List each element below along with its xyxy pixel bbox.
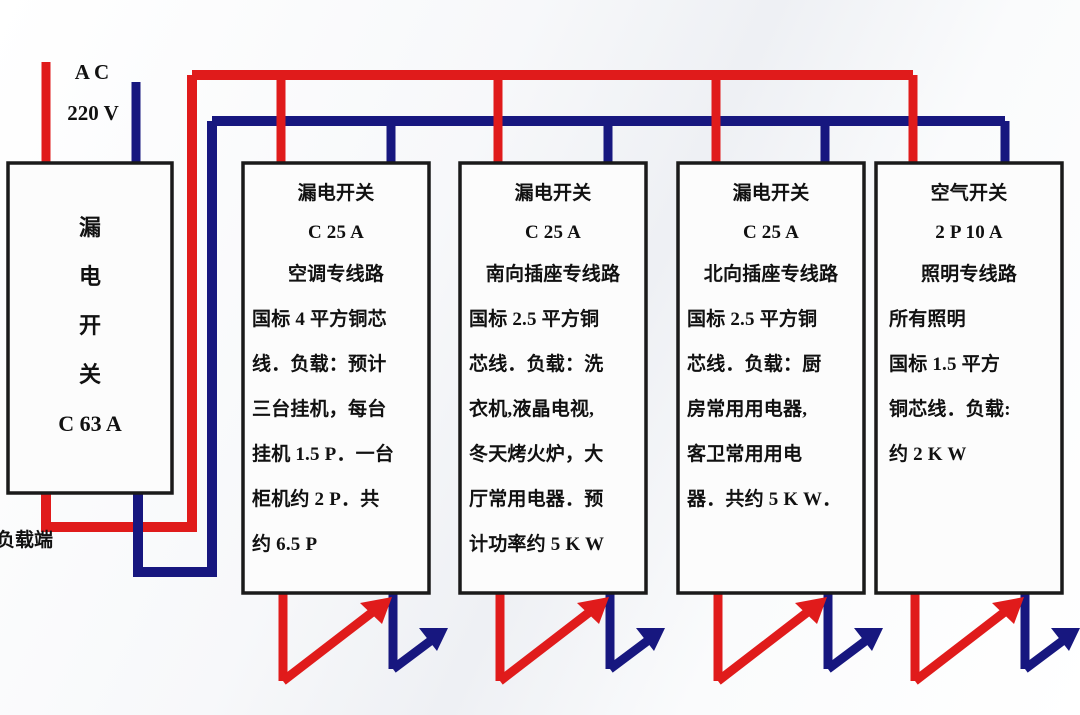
branch-south-socket-body-line-4: 冬天烤火炉，大 (469, 443, 641, 468)
branch-4-out-live-diag (915, 604, 1015, 681)
branch-lighting-title: 照明专线路 (876, 263, 1062, 288)
branch-1-out-live-diag (283, 604, 383, 681)
branch-south-socket-rating: C 25 A (460, 221, 646, 246)
branch-south-socket-body-line-6: 计功率约 5 K W (469, 533, 641, 558)
main-breaker-rating: C 63 A (8, 408, 172, 440)
branch-aircon-rating: C 25 A (243, 221, 429, 246)
branch-aircon-body-line-6: 约 6.5 P (252, 533, 424, 558)
load-end-label: 负载端 (0, 525, 53, 552)
branch-aircon-head: 漏电开关 (243, 182, 429, 207)
branch-lighting-body-line-4: 约 2 K W (889, 443, 1061, 468)
ac-source-label-line2: 220 V (48, 101, 138, 126)
ac-source-label-line1: A C (52, 60, 132, 85)
branch-south-socket-body-line-3: 衣机,液晶电视, (469, 398, 641, 423)
branch-lighting-head: 空气开关 (876, 182, 1062, 207)
branch-aircon-body-line-4: 挂机 1.5 P．一台 (252, 443, 424, 468)
branch-3-out-live-diag (718, 604, 818, 681)
branch-aircon-body-line-3: 三台挂机，每台 (252, 398, 424, 423)
branch-aircon-title: 空调专线路 (243, 263, 429, 288)
branch-north-socket-body-line-3: 房常用用电器, (687, 398, 859, 423)
branch-south-socket-body-line-5: 厅常用电器．预 (469, 488, 641, 513)
branch-lighting-rating: 2 P 10 A (876, 221, 1062, 246)
branch-south-socket-body-line-1: 国标 2.5 平方铜 (469, 308, 641, 333)
branch-aircon-body-line-1: 国标 4 平方铜芯 (252, 308, 424, 333)
main-breaker-char-3: 开 (8, 310, 172, 342)
branch-north-socket-rating: C 25 A (678, 221, 864, 246)
branch-aircon-body-line-5: 柜机约 2 P．共 (252, 488, 424, 513)
main-breaker-char-1: 漏 (8, 212, 172, 244)
branch-lighting-body-line-1: 所有照明 (889, 308, 1061, 333)
branch-north-socket-title: 北向插座专线路 (676, 263, 866, 288)
main-breaker-char-2: 电 (8, 261, 172, 293)
branch-north-socket-body-line-1: 国标 2.5 平方铜 (687, 308, 859, 333)
branch-lighting-body-line-3: 铜芯线．负载: (889, 398, 1061, 423)
branch-2-out-live-diag (500, 604, 600, 681)
branch-south-socket-body-line-2: 芯线．负载：洗 (469, 353, 641, 378)
branch-lighting-body-line-2: 国标 1.5 平方 (889, 353, 1061, 378)
branch-north-socket-body-line-2: 芯线．负载：厨 (687, 353, 859, 378)
branch-north-socket-body-line-5: 器．共约 5 K W． (687, 488, 859, 513)
main-breaker-char-4: 关 (8, 359, 172, 391)
branch-north-socket-head: 漏电开关 (678, 182, 864, 207)
branch-south-socket-title: 南向插座专线路 (458, 263, 648, 288)
wiring-diagram: A C 220 V 负载端 漏 电 开 关 C 63 A 漏电开关 C 25 A… (0, 0, 1080, 715)
branch-south-socket-head: 漏电开关 (460, 182, 646, 207)
branch-north-socket-body-line-4: 客卫常用用电 (687, 443, 859, 468)
branch-aircon-body-line-2: 线．负载：预计 (252, 353, 424, 378)
